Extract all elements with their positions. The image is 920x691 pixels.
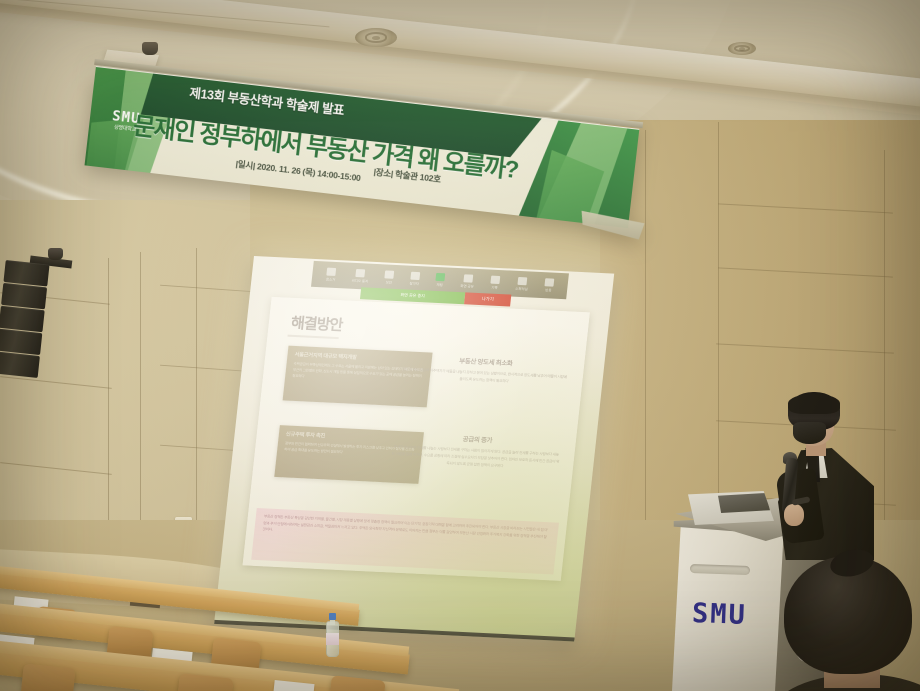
slide-title: 해결방안 (290, 312, 344, 335)
ceiling-vent-right (355, 28, 397, 47)
laptop-screen (718, 493, 770, 513)
record-icon (490, 276, 500, 284)
toolbar-record-label: 기록 (491, 285, 498, 290)
presentation-slide: 해결방안 서울근거지역 대규모 택지개발 주택공급이 부족상태인데도 그 수요는… (243, 297, 590, 581)
projection-screen: 음소거 비디오 중지 보안 참가자 채팅 화면 공유 (214, 256, 614, 641)
water-bottle (326, 613, 339, 657)
toolbar-video-button[interactable]: 비디오 중지 (351, 269, 369, 284)
presenter-hand (784, 504, 804, 526)
toolbar-mute-label: 음소거 (326, 277, 336, 282)
toolbar-breakout-button[interactable]: 소회의실 (515, 277, 529, 292)
ceiling-camera-icon (48, 248, 63, 260)
podium-front-panel: SMU (672, 521, 784, 691)
chat-icon (436, 273, 446, 281)
audience-member-foreground (778, 556, 920, 691)
bottle-label (326, 633, 339, 645)
toolbar-share-button[interactable]: 화면 공유 (460, 274, 475, 289)
presenter-face-mask (793, 422, 826, 444)
toolbar-video-label: 비디오 중지 (351, 278, 368, 284)
presenter-figure (770, 392, 880, 562)
participants-icon (410, 272, 420, 280)
podium-smu-logo: SMU (691, 598, 747, 631)
toolbar-reactions-label: 반응 (545, 287, 552, 292)
toolbar-security-button[interactable]: 보안 (384, 270, 395, 284)
podium-laptop[interactable] (688, 491, 774, 525)
lecture-hall-photo: SMU 상명대학교 제13회 부동산학과 학술제 발표 문재인 정부하에서 부동… (0, 0, 920, 691)
reactions-icon (544, 278, 554, 286)
breakout-icon (517, 277, 527, 285)
toolbar-security-label: 보안 (385, 279, 392, 284)
microphone-icon (327, 268, 337, 276)
toolbar-chat-button[interactable]: 채팅 (435, 273, 446, 287)
toolbar-participants-label: 참가자 (409, 281, 419, 286)
podium-handle (690, 564, 750, 575)
presenter-hair-fringe (788, 394, 840, 414)
ceiling-vent-far-right (728, 42, 756, 55)
share-screen-icon (463, 274, 473, 282)
bottle-cap (329, 613, 336, 620)
leave-meeting-button[interactable]: 나가기 (464, 292, 511, 306)
toolbar-record-button[interactable]: 기록 (490, 276, 501, 290)
ceiling-sensor (142, 42, 158, 55)
shield-icon (385, 270, 395, 278)
slide-conclusion-box: 부동산 정책은 부동산 특성을 감안한 지역별, 물건별, 시장 계층별 상황에… (251, 508, 559, 574)
toolbar-share-label: 화면 공유 (460, 283, 474, 289)
toolbar-breakout-label: 소회의실 (515, 286, 528, 292)
toolbar-chat-label: 채팅 (436, 282, 443, 287)
toolbar-mute-button[interactable]: 음소거 (326, 268, 337, 282)
lecture-chair[interactable] (20, 663, 75, 691)
wall-panel-seam (884, 150, 885, 550)
toolbar-reactions-button[interactable]: 반응 (544, 278, 555, 292)
video-icon (356, 269, 366, 277)
toolbar-participants-button[interactable]: 참가자 (409, 272, 420, 286)
